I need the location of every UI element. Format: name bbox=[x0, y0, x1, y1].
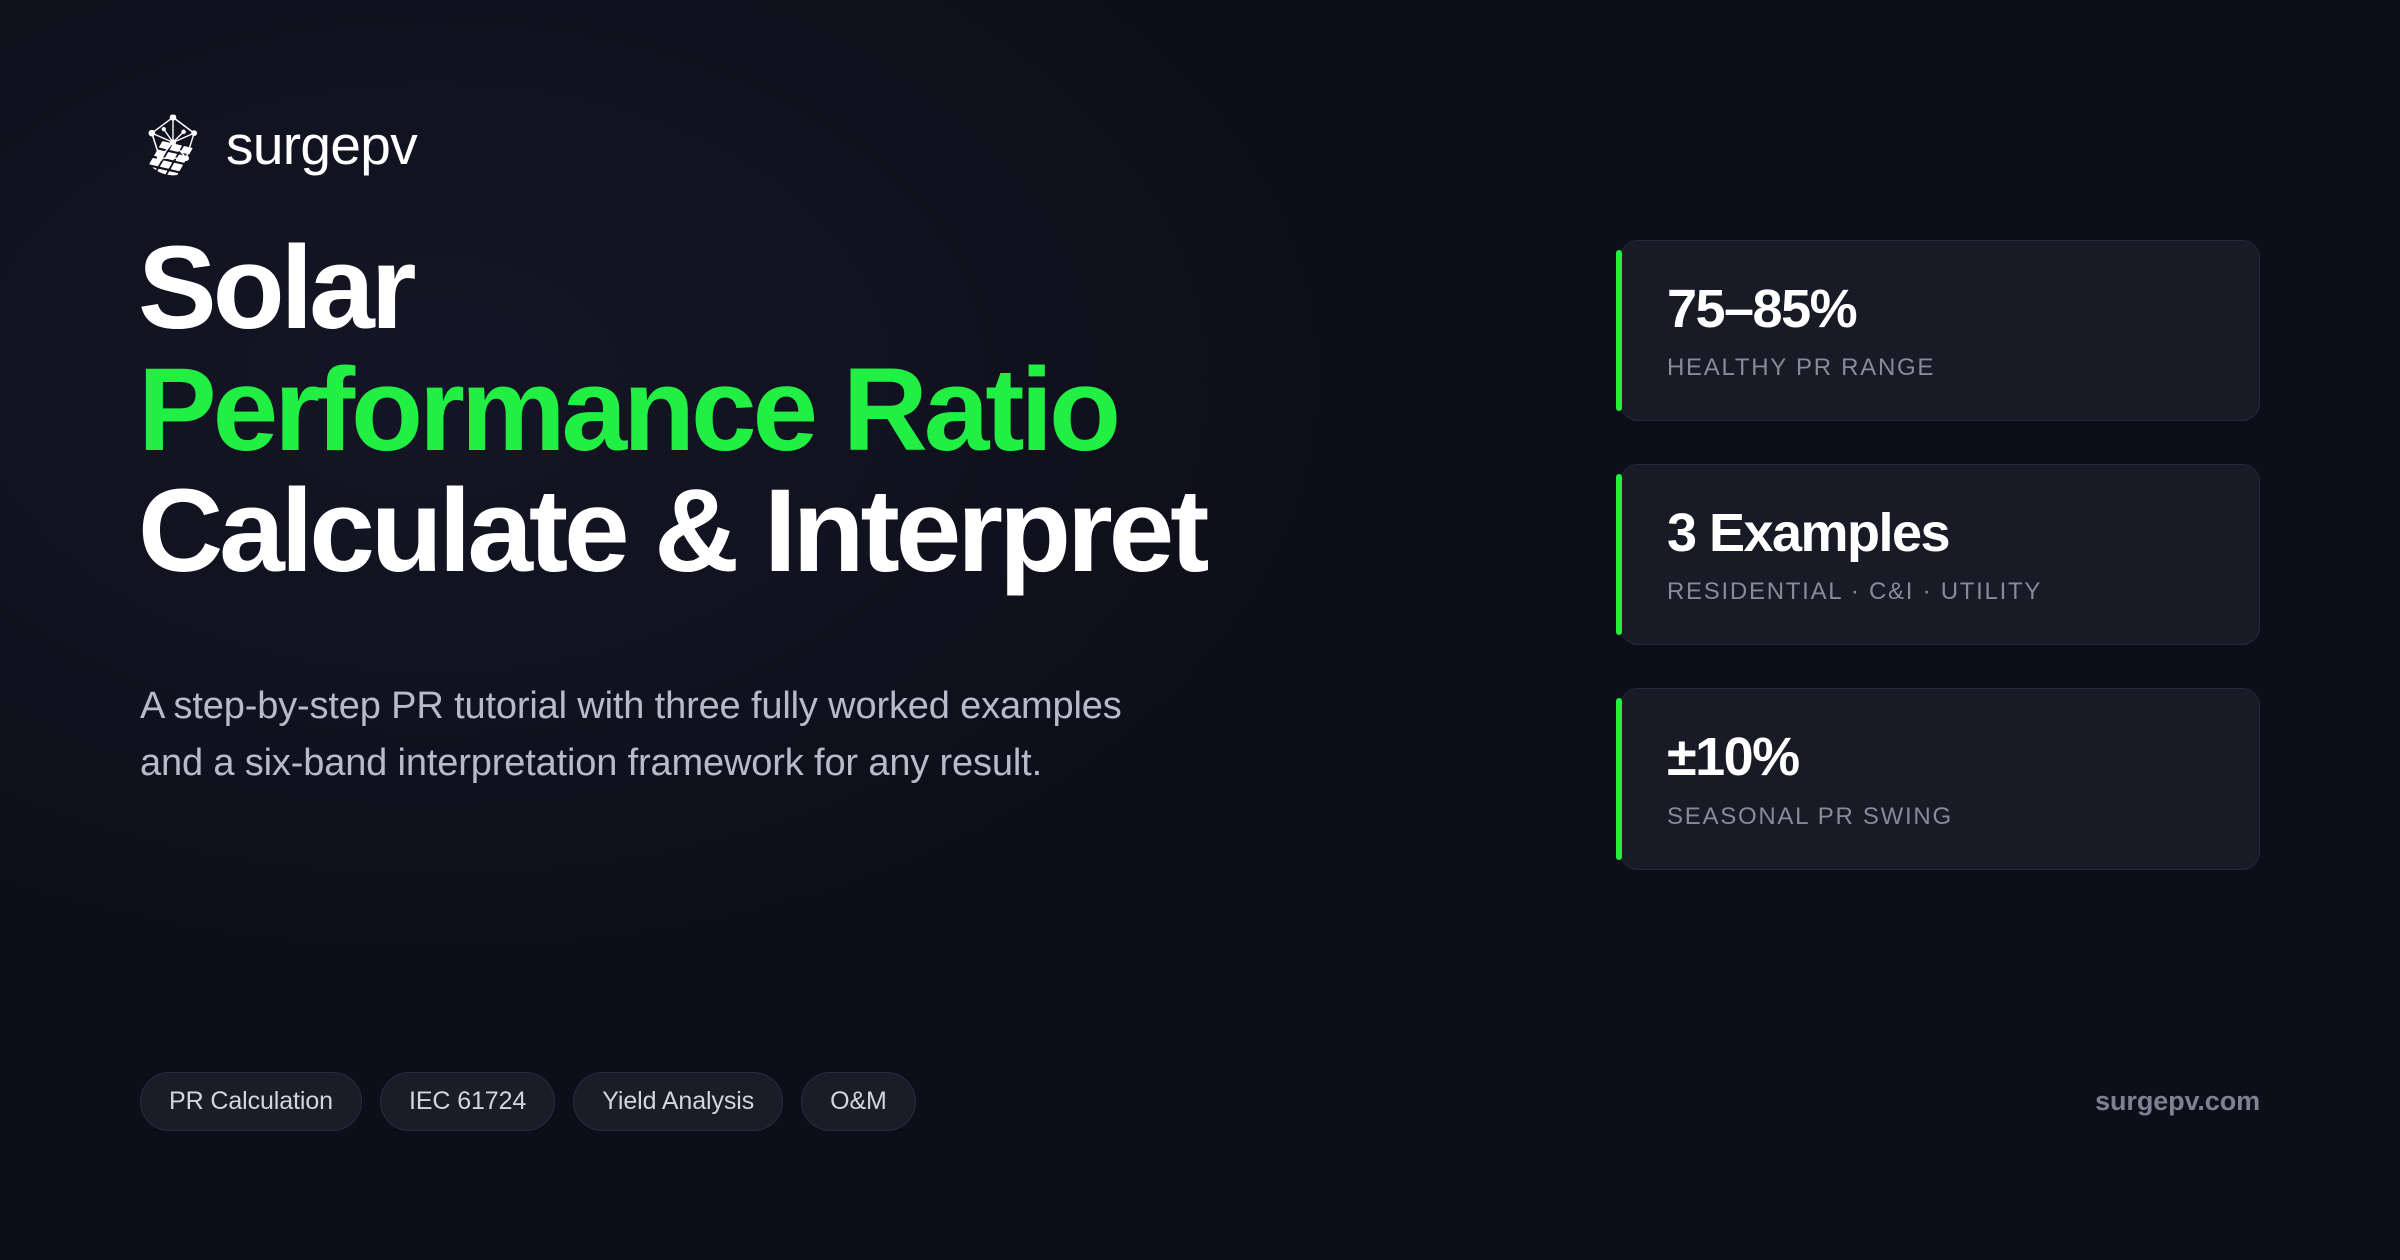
stat-value: ±10% bbox=[1667, 729, 2219, 786]
stat-label: HEALTHY PR RANGE bbox=[1667, 354, 2219, 382]
hero-slide: surgepv Solar Performance Ratio Calculat… bbox=[0, 0, 2400, 1260]
stat-card-examples[interactable]: 3 Examples RESIDENTIAL · C&I · UTILITY bbox=[1620, 464, 2260, 645]
tag-list: PR Calculation IEC 61724 Yield Analysis … bbox=[140, 1072, 916, 1131]
stat-label: SEASONAL PR SWING bbox=[1667, 803, 2219, 831]
headline-line-2: Performance Ratio bbox=[138, 350, 1468, 472]
stat-card-list: 75–85% HEALTHY PR RANGE 3 Examples RESID… bbox=[1620, 240, 2260, 870]
footer-url[interactable]: surgepv.com bbox=[2095, 1086, 2260, 1117]
globe-network-solar-panel-icon bbox=[140, 112, 206, 178]
tag-yield-analysis[interactable]: Yield Analysis bbox=[573, 1072, 783, 1131]
subtitle-line-2: and a six-band interpretation framework … bbox=[140, 735, 1320, 792]
stat-value: 3 Examples bbox=[1667, 505, 2219, 562]
page-title: Solar Performance Ratio Calculate & Inte… bbox=[138, 228, 1468, 593]
stat-card-healthy-pr-range[interactable]: 75–85% HEALTHY PR RANGE bbox=[1620, 240, 2260, 421]
headline-line-3: Calculate & Interpret bbox=[138, 471, 1468, 593]
tag-iec-61724[interactable]: IEC 61724 bbox=[380, 1072, 555, 1131]
stat-card-seasonal-swing[interactable]: ±10% SEASONAL PR SWING bbox=[1620, 688, 2260, 869]
stat-value: 75–85% bbox=[1667, 281, 2219, 338]
subtitle-line-1: A step-by-step PR tutorial with three fu… bbox=[140, 678, 1320, 735]
tag-om[interactable]: O&M bbox=[801, 1072, 916, 1131]
accent-bar bbox=[1616, 250, 1622, 411]
page-subtitle: A step-by-step PR tutorial with three fu… bbox=[140, 678, 1320, 792]
brand-lockup[interactable]: surgepv bbox=[140, 112, 417, 178]
brand-wordmark: surgepv bbox=[226, 118, 417, 173]
accent-bar bbox=[1616, 698, 1622, 859]
headline-line-1: Solar bbox=[138, 228, 1468, 350]
stat-label: RESIDENTIAL · C&I · UTILITY bbox=[1667, 578, 2219, 606]
tag-pr-calculation[interactable]: PR Calculation bbox=[140, 1072, 362, 1131]
accent-bar bbox=[1616, 474, 1622, 635]
